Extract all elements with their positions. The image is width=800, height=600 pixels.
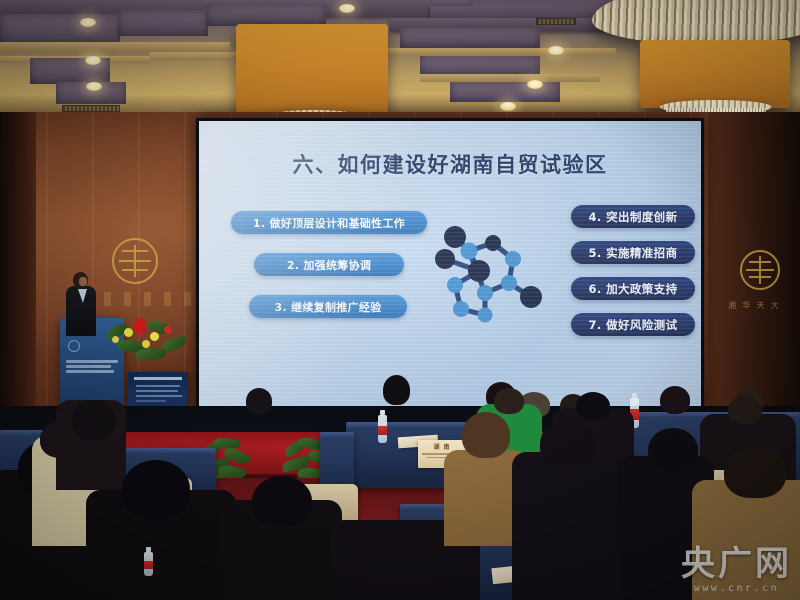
audience-head <box>72 400 116 440</box>
slide-bullet-4: 4. 突出制度创新 <box>571 205 695 228</box>
audience-head <box>648 428 698 472</box>
audience-person <box>512 452 622 600</box>
audience-head <box>462 412 510 458</box>
audience-head <box>728 396 762 424</box>
slide-bullet-5-text: 5. 实施精准招商 <box>589 245 678 261</box>
wall-shadow-left <box>0 112 36 420</box>
audience-head <box>252 476 312 526</box>
molecule-diagram <box>421 209 551 334</box>
slide-bullet-3: 3. 继续复制推广经验 <box>249 295 407 318</box>
slide-bullet-1: 1. 做好顶层设计和基础性工作 <box>231 211 427 234</box>
slide-bullet-7-text: 7. 做好风险测试 <box>589 317 678 333</box>
water-bottle <box>144 552 153 576</box>
projection-screen: 六、如何建设好湖南自贸试验区 1. 做好顶层设计和基础性工作 2. 加强统筹协调… <box>199 121 701 409</box>
audience-head <box>724 446 786 498</box>
slide-bullet-7: 7. 做好风险测试 <box>571 313 695 336</box>
audience-head <box>122 460 190 518</box>
gold-circular-emblem <box>740 250 780 290</box>
gold-circular-emblem <box>112 238 158 284</box>
water-bottle <box>378 415 387 443</box>
presenter <box>66 272 96 336</box>
podium-emblem-icon <box>68 340 80 352</box>
audience-head <box>246 388 272 414</box>
hall-ceiling <box>0 0 800 118</box>
floral-arrangement <box>104 306 190 362</box>
slide-bullet-6: 6. 加大政策支持 <box>571 277 695 300</box>
audience-head <box>660 386 690 414</box>
wall-emblem-label: 湘 华 天 大 <box>728 300 781 311</box>
audience-head <box>576 392 610 420</box>
slide-bullet-3-text: 3. 继续复制推广经验 <box>275 299 382 315</box>
wall-calligraphy <box>104 292 196 306</box>
ceiling-chandelier-large <box>592 0 800 118</box>
slide-bullet-6-text: 6. 加大政策支持 <box>589 281 678 297</box>
slide-bullet-5: 5. 实施精准招商 <box>571 241 695 264</box>
slide-bullet-1-text: 1. 做好顶层设计和基础性工作 <box>253 215 405 231</box>
slide-bullet-4-text: 4. 突出制度创新 <box>589 209 678 225</box>
audience-head <box>540 420 596 468</box>
audience-head <box>494 388 524 414</box>
audience-head <box>383 375 410 405</box>
conference-hall-photo: 湘 华 天 大 六、如何建设好湖南自贸试验区 1. 做好顶层设计和基础性工作 2… <box>0 0 800 600</box>
slide-bullet-2: 2. 加强统筹协调 <box>254 253 404 276</box>
slide-bullet-2-text: 2. 加强统筹协调 <box>287 257 371 273</box>
audience-person <box>692 480 800 600</box>
projection-screen-frame: 六、如何建设好湖南自贸试验区 1. 做好顶层设计和基础性工作 2. 加强统筹协调… <box>196 118 704 412</box>
slide-title: 六、如何建设好湖南自贸试验区 <box>199 149 701 179</box>
podium-text-lines <box>66 360 118 375</box>
